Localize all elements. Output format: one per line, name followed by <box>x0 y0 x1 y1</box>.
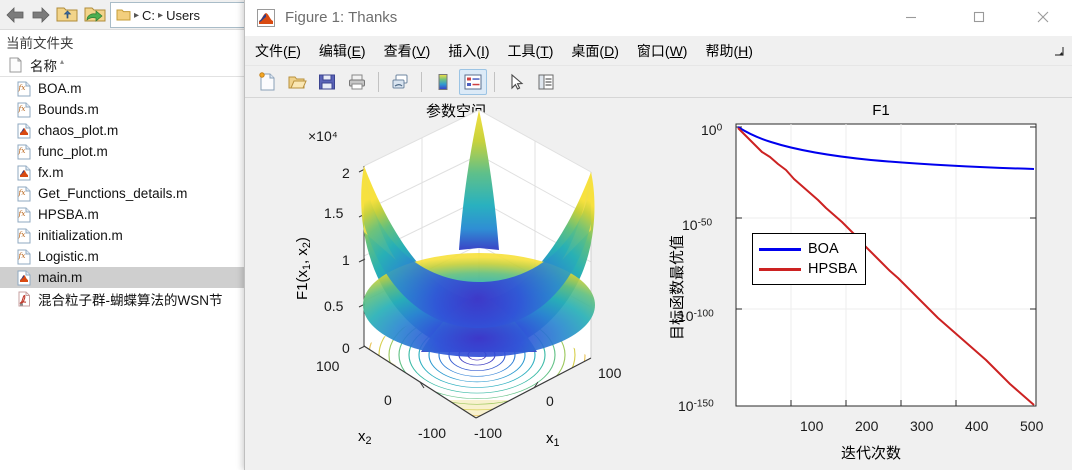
surface-axes: 参数空间 ×10⁴ 2 1.5 1 0.5 0 100 0 -100 -100 … <box>246 100 666 470</box>
sort-ascending-icon: ▴ <box>60 57 64 66</box>
file-name-label: initialization.m <box>38 228 123 243</box>
arrow-pointer-icon <box>506 72 526 92</box>
surface-plot-graphic <box>246 100 666 470</box>
legend-icon <box>463 72 483 92</box>
m-script-icon <box>16 123 32 139</box>
pdf-icon <box>16 291 32 307</box>
open-file-button[interactable] <box>283 69 311 95</box>
legend-label-hpsba: HPSBA <box>808 261 857 277</box>
back-arrow-icon[interactable] <box>4 4 26 26</box>
menu-label: 文件 <box>255 43 283 59</box>
menu-item-t[interactable]: 工具(T) <box>508 41 554 61</box>
file-name-label: fx.m <box>38 165 64 180</box>
svg-text:fx: fx <box>18 209 27 218</box>
maximize-button[interactable] <box>956 0 1002 34</box>
breadcrumb-separator-1: ▸ <box>158 10 163 21</box>
link-plot-button[interactable] <box>386 69 414 95</box>
menu-accelerator: I <box>481 43 485 59</box>
menu-item-v[interactable]: 查看(V) <box>384 41 431 61</box>
browse-folder-icon[interactable] <box>84 4 108 26</box>
m-function-icon: fx <box>16 81 32 97</box>
menu-item-h[interactable]: 帮助(H) <box>705 41 752 61</box>
figure-menu-bar: 文件(F)编辑(E)查看(V)插入(I)工具(T)桌面(D)窗口(W)帮助(H) <box>245 36 1072 66</box>
edit-plot-button[interactable] <box>502 69 530 95</box>
breadcrumb-c-drive[interactable]: C: <box>142 8 155 23</box>
document-icon <box>0 57 30 73</box>
file-name-label: main.m <box>38 270 82 285</box>
figure-title-text: Figure 1: Thanks <box>285 9 397 26</box>
collapse-arrow-icon[interactable] <box>1050 43 1066 59</box>
minimize-button[interactable] <box>888 0 934 34</box>
menu-item-w[interactable]: 窗口(W) <box>637 41 688 61</box>
menu-item-d[interactable]: 桌面(D) <box>571 41 618 61</box>
legend-label-boa: BOA <box>808 241 839 257</box>
file-name-label: BOA.m <box>38 81 82 96</box>
folder-icon <box>116 8 131 22</box>
m-function-icon: fx <box>16 228 32 244</box>
figure-title-bar[interactable]: Figure 1: Thanks <box>245 0 1072 36</box>
new-figure-button[interactable] <box>253 69 281 95</box>
open-folder-icon <box>287 72 307 92</box>
matlab-icon <box>257 9 275 27</box>
file-name-label: chaos_plot.m <box>38 123 118 138</box>
forward-arrow-icon[interactable] <box>30 4 52 26</box>
legend-swatch-hpsba <box>759 268 801 271</box>
link-plot-icon <box>390 72 410 92</box>
breadcrumb-users[interactable]: Users <box>166 8 200 23</box>
m-function-icon: fx <box>16 102 32 118</box>
close-button[interactable] <box>1020 0 1066 34</box>
file-name-label: Bounds.m <box>38 102 99 117</box>
file-name-label: 混合粒子群-蝴蝶算法的WSN节 <box>38 289 223 309</box>
screen: ▸ C: ▸ Users 当前文件夹 名称 ▴ fx BOA.m <box>0 0 1072 470</box>
column-header-name-label: 名称 <box>30 55 57 75</box>
svg-text:fx: fx <box>18 251 27 260</box>
legend-button[interactable] <box>459 69 487 95</box>
column-header-name[interactable]: 名称 ▴ <box>30 55 64 75</box>
toolbar-separator <box>378 72 379 92</box>
m-function-icon: fx <box>16 207 32 223</box>
menu-item-f[interactable]: 文件(F) <box>255 41 301 61</box>
menu-accelerator: W <box>670 43 683 59</box>
file-name-label: Get_Functions_details.m <box>38 186 187 201</box>
svg-text:fx: fx <box>18 146 27 155</box>
menu-label: 插入 <box>448 43 476 59</box>
matlab-figure-window: Figure 1: Thanks 文件(F)编辑(E)查看(V)插入(I)工具(… <box>244 0 1072 470</box>
menu-accelerator: V <box>416 43 425 59</box>
convergence-axes: F1 100 10-50 10-100 10-150 100 200 300 4… <box>646 100 1072 470</box>
legend-item-boa: BOA <box>759 239 857 259</box>
menu-accelerator: E <box>352 43 361 59</box>
colorbar-icon <box>433 72 453 92</box>
m-script-icon <box>16 165 32 181</box>
menu-label: 窗口 <box>637 43 665 59</box>
legend-swatch-boa <box>759 248 801 251</box>
property-editor-icon <box>536 72 556 92</box>
print-figure-button[interactable] <box>343 69 371 95</box>
menu-label: 桌面 <box>571 43 599 59</box>
svg-text:fx: fx <box>18 230 27 239</box>
svg-text:fx: fx <box>18 104 27 113</box>
toolbar-separator <box>421 72 422 92</box>
chart-legend[interactable]: BOA HPSBA <box>752 233 866 285</box>
menu-accelerator: D <box>604 43 614 59</box>
figure-toolbar <box>245 66 1072 98</box>
colorbar-button[interactable] <box>429 69 457 95</box>
menu-item-e[interactable]: 编辑(E) <box>319 41 366 61</box>
file-name-label: HPSBA.m <box>38 207 99 222</box>
printer-icon <box>347 72 367 92</box>
menu-label: 查看 <box>384 43 412 59</box>
up-folder-icon[interactable] <box>56 4 80 26</box>
m-function-icon: fx <box>16 186 32 202</box>
file-name-label: Logistic.m <box>38 249 99 264</box>
menu-label: 帮助 <box>705 43 733 59</box>
property-editor-button[interactable] <box>532 69 560 95</box>
m-function-icon: fx <box>16 249 32 265</box>
legend-item-hpsba: HPSBA <box>759 259 857 279</box>
menu-accelerator: H <box>738 43 748 59</box>
svg-text:fx: fx <box>18 188 27 197</box>
menu-accelerator: T <box>540 43 549 59</box>
menu-label: 工具 <box>508 43 536 59</box>
svg-text:fx: fx <box>18 83 27 92</box>
m-function-icon: fx <box>16 144 32 160</box>
menu-accelerator: F <box>288 43 297 59</box>
breadcrumb-separator-0: ▸ <box>134 10 139 21</box>
menu-item-i[interactable]: 插入(I) <box>448 41 489 61</box>
save-figure-button[interactable] <box>313 69 341 95</box>
file-name-label: func_plot.m <box>38 144 108 159</box>
floppy-save-icon <box>317 72 337 92</box>
menu-label: 编辑 <box>319 43 347 59</box>
figure-canvas: 参数空间 ×10⁴ 2 1.5 1 0.5 0 100 0 -100 -100 … <box>246 100 1071 467</box>
m-script-icon <box>16 270 32 286</box>
toolbar-separator <box>494 72 495 92</box>
new-document-icon <box>257 72 277 92</box>
convergence-plot-graphic <box>646 100 1072 470</box>
